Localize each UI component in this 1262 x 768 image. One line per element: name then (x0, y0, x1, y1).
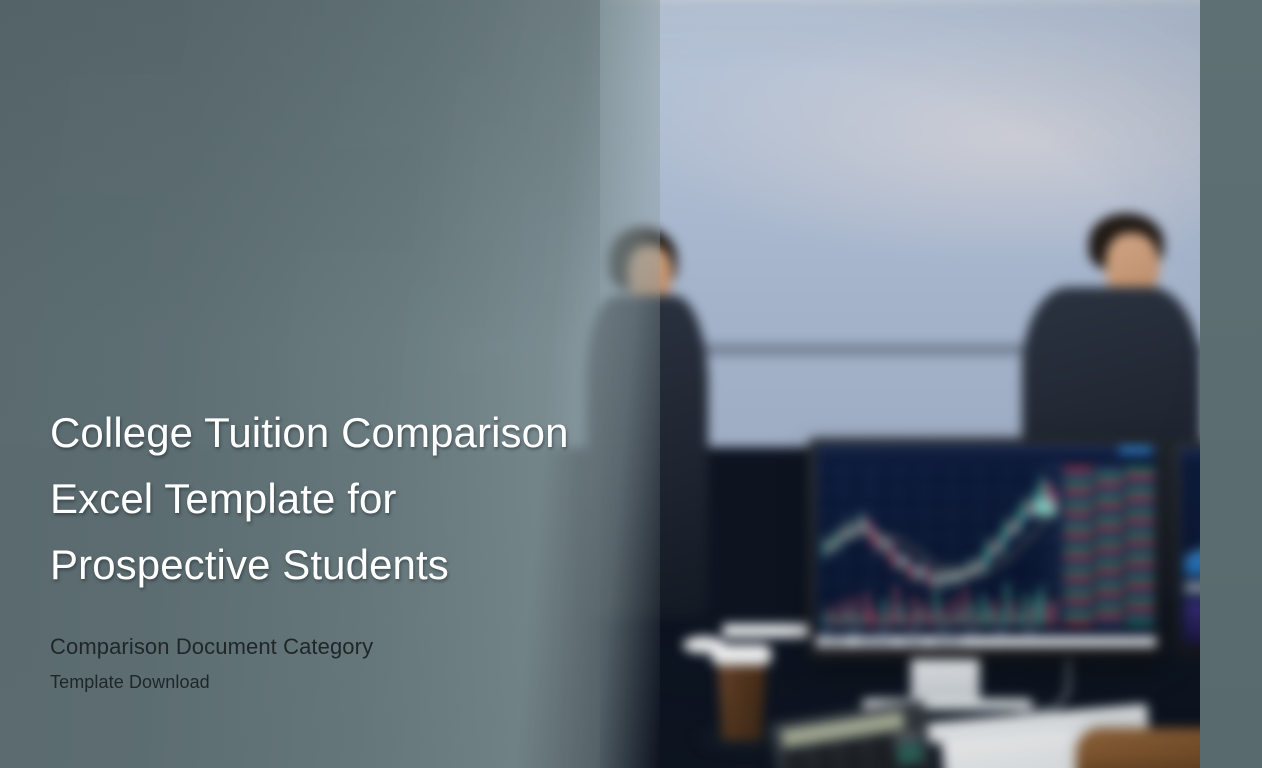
quote-cell (1126, 518, 1155, 523)
volume-bar (847, 610, 850, 626)
page-title: College Tuition Comparison Excel Templat… (50, 400, 590, 598)
quote-row[interactable] (1064, 511, 1154, 516)
keyboard-key[interactable] (1019, 738, 1032, 748)
calculator-key[interactable] (866, 735, 892, 747)
keyboard-key[interactable] (978, 753, 991, 763)
quote-cell (1064, 554, 1093, 559)
quote-cell (1095, 503, 1124, 508)
quote-row[interactable] (1064, 598, 1154, 603)
volume-bar (999, 611, 1002, 626)
quote-cell (1126, 620, 1155, 625)
quote-cell (1064, 496, 1093, 501)
volume-bar (865, 592, 868, 626)
secondary-panel-row (1184, 581, 1200, 593)
time-axis (823, 628, 1040, 634)
quote-cell (1126, 583, 1155, 588)
quote-row[interactable] (1064, 518, 1154, 523)
volume-bar (1029, 607, 1032, 626)
quote-cell (1126, 547, 1155, 552)
keyboard-key[interactable] (1047, 747, 1060, 757)
volume-bar (888, 611, 891, 626)
volume-bar (1017, 613, 1020, 626)
quote-cell (1126, 496, 1155, 501)
terminal-subtoolbar (816, 454, 1156, 462)
quote-row[interactable] (1064, 583, 1154, 588)
quote-cell (1064, 613, 1093, 618)
volume-bar (923, 602, 926, 626)
trading-monitor-screen (816, 445, 1156, 647)
volume-bar (824, 613, 827, 626)
quote-cell (1064, 482, 1093, 487)
volume-bar (994, 600, 997, 626)
quote-row[interactable] (1064, 569, 1154, 574)
keyboard-key[interactable] (1061, 745, 1074, 755)
keyboard-key[interactable] (992, 752, 1005, 762)
keyboard-key[interactable] (1020, 761, 1033, 768)
calculator-key[interactable] (783, 748, 809, 760)
quote-cell (1064, 562, 1093, 567)
quote-cell (1064, 511, 1093, 516)
quote-cell (1064, 467, 1093, 472)
keyboard-key[interactable] (991, 740, 1004, 750)
second-monitor (1172, 441, 1200, 657)
document-category: Comparison Document Category (50, 632, 590, 662)
quote-row[interactable] (1064, 620, 1154, 625)
quote-cell (1064, 489, 1093, 494)
quote-row[interactable] (1064, 482, 1154, 487)
keyboard-key[interactable] (949, 744, 962, 754)
sky-glow-secondary (126, 0, 625, 188)
volume-bar (941, 606, 944, 626)
terminal-toolbar (816, 445, 1156, 454)
keyboard-key[interactable] (1032, 736, 1045, 746)
volume-bar (906, 615, 909, 626)
quote-cell (1126, 511, 1155, 516)
quote-cell (1095, 583, 1124, 588)
suit (585, 295, 708, 617)
volume-bar (841, 601, 844, 626)
quote-row[interactable] (1064, 547, 1154, 552)
calculator[interactable] (769, 700, 935, 768)
quote-row[interactable] (1064, 489, 1154, 494)
quote-cell (1064, 576, 1093, 581)
keyboard-key[interactable] (950, 755, 963, 765)
volume-bar (1011, 602, 1014, 626)
quote-cell (1126, 576, 1155, 581)
quote-cell (1095, 532, 1124, 537)
quote-cell (1064, 569, 1093, 574)
volume-bar (958, 610, 961, 626)
calculator-key[interactable] (870, 757, 896, 768)
quote-cell (1095, 598, 1124, 603)
quote-cell (1126, 598, 1155, 603)
quote-row[interactable] (1064, 525, 1154, 530)
calculator-key[interactable] (839, 740, 865, 752)
template-download-label[interactable]: Template Download (50, 670, 590, 694)
terminal-toolbar (1180, 448, 1200, 457)
area-series (1184, 475, 1200, 575)
quote-cell (1064, 518, 1093, 523)
quote-row[interactable] (1064, 474, 1154, 479)
volume-bar (947, 616, 950, 626)
volume-bar (1035, 597, 1038, 626)
volume-bar (877, 616, 880, 626)
quote-cell (1095, 511, 1124, 516)
quote-row[interactable] (1064, 467, 1154, 472)
keyboard-key[interactable] (993, 763, 1006, 768)
quote-cell (1126, 540, 1155, 545)
volume-bar (988, 608, 991, 626)
quote-cell (1064, 605, 1093, 610)
quote-cell (1064, 474, 1093, 479)
volume-bar (918, 609, 921, 626)
keyboard-key[interactable] (964, 754, 977, 764)
volume-bar (836, 616, 839, 626)
keyboard-key[interactable] (1006, 750, 1019, 760)
quote-cell (1064, 532, 1093, 537)
second-monitor-screen (1180, 448, 1200, 645)
quote-cell (1126, 569, 1155, 574)
quote-cell (1095, 605, 1124, 610)
moving-average-lines (823, 472, 1057, 593)
volume-bar (1040, 588, 1043, 626)
quote-row[interactable] (1064, 562, 1154, 567)
coffee-cup (718, 661, 767, 740)
quote-cell (1126, 613, 1155, 618)
volume-bar (830, 606, 833, 626)
statusbar-item[interactable] (933, 640, 962, 644)
quote-row[interactable] (1064, 496, 1154, 501)
volume-bar (964, 589, 967, 626)
volume-bar (853, 597, 856, 626)
volume-bar (1005, 584, 1008, 626)
quote-cell (1095, 562, 1124, 567)
volume-histogram (823, 582, 1040, 626)
volume-bar (982, 595, 985, 626)
keyboard-key[interactable] (977, 741, 990, 751)
volume-bar (935, 591, 938, 626)
quote-cell (1064, 583, 1093, 588)
terminal-statusbar (816, 636, 1156, 646)
right-background-strip (1200, 0, 1262, 768)
quote-cell (1126, 562, 1155, 567)
keyboard-key[interactable] (1033, 748, 1046, 758)
quote-row[interactable] (1064, 613, 1154, 618)
calculator-key[interactable] (894, 731, 920, 743)
coffee-cup-lid (711, 645, 771, 666)
volume-bar (970, 604, 973, 626)
quote-cell (1064, 547, 1093, 552)
quote-cell (1095, 482, 1124, 487)
calculator-key[interactable] (785, 759, 811, 768)
quote-row[interactable] (1064, 503, 1154, 508)
calculator-key[interactable] (897, 753, 923, 765)
trading-monitor (808, 438, 1165, 660)
quote-cell (1064, 503, 1093, 508)
quote-cell (1095, 591, 1124, 596)
quote-cell (1126, 591, 1155, 596)
quote-cell (1095, 496, 1124, 501)
keyboard-key[interactable] (963, 743, 976, 753)
statusbar-item[interactable] (858, 640, 893, 644)
volume-bar (871, 607, 874, 626)
quote-cell (1126, 467, 1155, 472)
quote-cell (1064, 540, 1093, 545)
quote-cell (1095, 620, 1124, 625)
keyboard-key[interactable] (1034, 759, 1047, 768)
keyboard-key[interactable] (1020, 749, 1033, 759)
calculator-key[interactable] (811, 744, 837, 756)
quote-cell (1126, 503, 1155, 508)
volume-bar (859, 614, 862, 626)
quote-cell (1126, 525, 1155, 530)
volume-bar (976, 614, 979, 626)
quote-cell (1095, 569, 1124, 574)
keyboard-key[interactable] (1005, 739, 1018, 749)
quote-cell (1095, 554, 1124, 559)
keyboard-key[interactable] (1048, 758, 1061, 768)
quote-cell (1095, 540, 1124, 545)
volume-bar (1052, 600, 1055, 626)
quote-cell (1095, 518, 1124, 523)
quote-table (1061, 463, 1157, 628)
volume-bar (1046, 605, 1049, 626)
quote-cell (1095, 467, 1124, 472)
quote-row[interactable] (1064, 591, 1154, 596)
quote-cell (1064, 598, 1093, 603)
volume-bar (882, 599, 885, 626)
volume-bar (894, 587, 897, 626)
keyboard-key[interactable] (1007, 762, 1020, 768)
quote-row[interactable] (1064, 532, 1154, 537)
quote-row[interactable] (1064, 540, 1154, 545)
quote-row[interactable] (1064, 576, 1154, 581)
calculator-key[interactable] (842, 761, 868, 768)
calculator-key[interactable] (899, 764, 925, 768)
volume-bar (900, 605, 903, 626)
presentation-slide: College Tuition Comparison Excel Templat… (0, 0, 1262, 768)
quote-cell (1126, 482, 1155, 487)
secondary-lower-chart (1184, 600, 1200, 644)
quote-row[interactable] (1064, 554, 1154, 559)
quote-cell (1095, 474, 1124, 479)
quote-cell (1095, 613, 1124, 618)
quote-cell (1064, 620, 1093, 625)
quote-cell (1064, 591, 1093, 596)
volume-bar (929, 613, 932, 626)
quote-cell (1126, 489, 1155, 494)
quote-cell (1126, 554, 1155, 559)
quote-cell (1095, 489, 1124, 494)
quote-cell (1126, 532, 1155, 537)
office-chair (1076, 728, 1200, 768)
quote-cell (1126, 605, 1155, 610)
keyboard-key[interactable] (1062, 757, 1075, 767)
quote-cell (1095, 525, 1124, 530)
volume-bar (912, 596, 915, 626)
quote-row[interactable] (1064, 605, 1154, 610)
volume-bar (1023, 593, 1026, 626)
quote-cell (1095, 547, 1124, 552)
statusbar-item[interactable] (902, 640, 925, 644)
volume-bar (953, 598, 956, 626)
quote-cell (1126, 474, 1155, 479)
hero-content: College Tuition Comparison Excel Templat… (50, 400, 590, 694)
quote-cell (1095, 576, 1124, 581)
keyboard-key[interactable] (1046, 735, 1059, 745)
keyboard-key[interactable] (979, 764, 992, 768)
quote-cell (1064, 525, 1093, 530)
statusbar-item[interactable] (823, 640, 848, 644)
terminal-action-button[interactable] (1119, 447, 1152, 453)
keyboard-key[interactable] (1060, 734, 1073, 744)
